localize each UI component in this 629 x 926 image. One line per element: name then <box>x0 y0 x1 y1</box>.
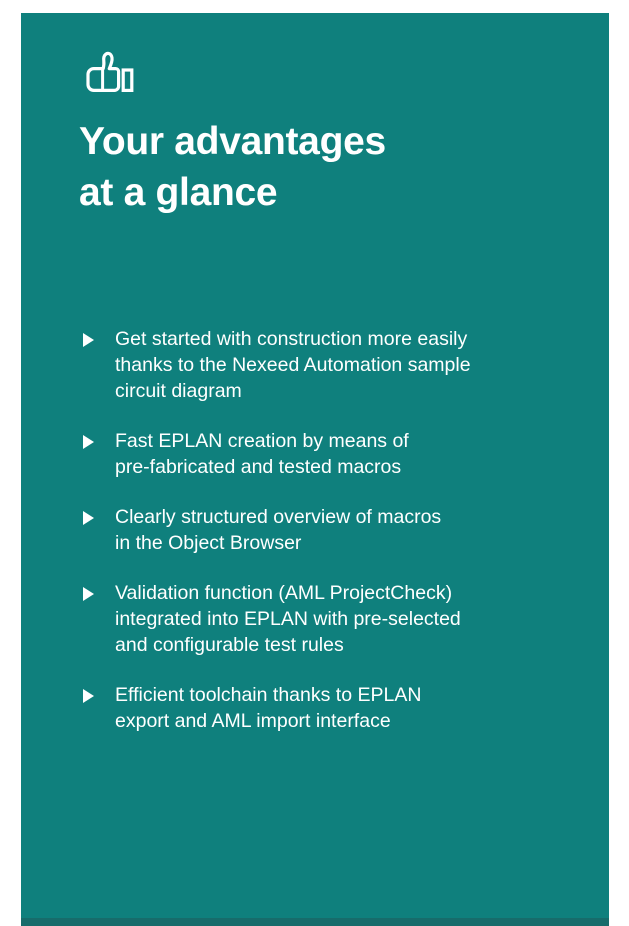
list-item-line: Validation function (AML ProjectCheck) <box>115 580 589 606</box>
list-item: Get started with construction more easil… <box>79 326 589 404</box>
list-item-line: integrated into EPLAN with pre-selected <box>115 606 589 632</box>
list-item-text: Validation function (AML ProjectCheck) i… <box>115 580 589 658</box>
triangle-right-icon <box>79 428 115 449</box>
panel-footer-strip <box>21 918 609 926</box>
page-title-line-1: Your advantages <box>79 116 579 167</box>
list-item-line: Efficient toolchain thanks to EPLAN <box>115 682 589 708</box>
triangle-right-icon <box>79 682 115 703</box>
list-item-line: and configurable test rules <box>115 632 589 658</box>
page-title: Your advantages at a glance <box>79 116 579 218</box>
page-title-line-2: at a glance <box>79 167 579 218</box>
advantages-panel: Your advantages at a glance Get started … <box>21 13 609 918</box>
list-item-text: Efficient toolchain thanks to EPLAN expo… <box>115 682 589 734</box>
list-item-line: Get started with construction more easil… <box>115 326 589 352</box>
list-item-line: export and AML import interface <box>115 708 589 734</box>
list-item-line: Clearly structured overview of macros <box>115 504 589 530</box>
list-item: Clearly structured overview of macros in… <box>79 504 589 556</box>
triangle-right-icon <box>79 504 115 525</box>
advantages-list: Get started with construction more easil… <box>79 326 589 734</box>
list-item-line: in the Object Browser <box>115 530 589 556</box>
list-item-text: Clearly structured overview of macros in… <box>115 504 589 556</box>
list-item-text: Get started with construction more easil… <box>115 326 589 404</box>
list-item-line: thanks to the Nexeed Automation sample <box>115 352 589 378</box>
list-item-line: circuit diagram <box>115 378 589 404</box>
list-item-line: Fast EPLAN creation by means of <box>115 428 589 454</box>
list-item-text: Fast EPLAN creation by means of pre-fabr… <box>115 428 589 480</box>
list-item-line: pre-fabricated and tested macros <box>115 454 589 480</box>
triangle-right-icon <box>79 326 115 347</box>
triangle-right-icon <box>79 580 115 601</box>
thumbs-up-icon <box>79 49 139 101</box>
list-item: Efficient toolchain thanks to EPLAN expo… <box>79 682 589 734</box>
page-root: Your advantages at a glance Get started … <box>0 0 629 926</box>
list-item: Fast EPLAN creation by means of pre-fabr… <box>79 428 589 480</box>
list-item: Validation function (AML ProjectCheck) i… <box>79 580 589 658</box>
